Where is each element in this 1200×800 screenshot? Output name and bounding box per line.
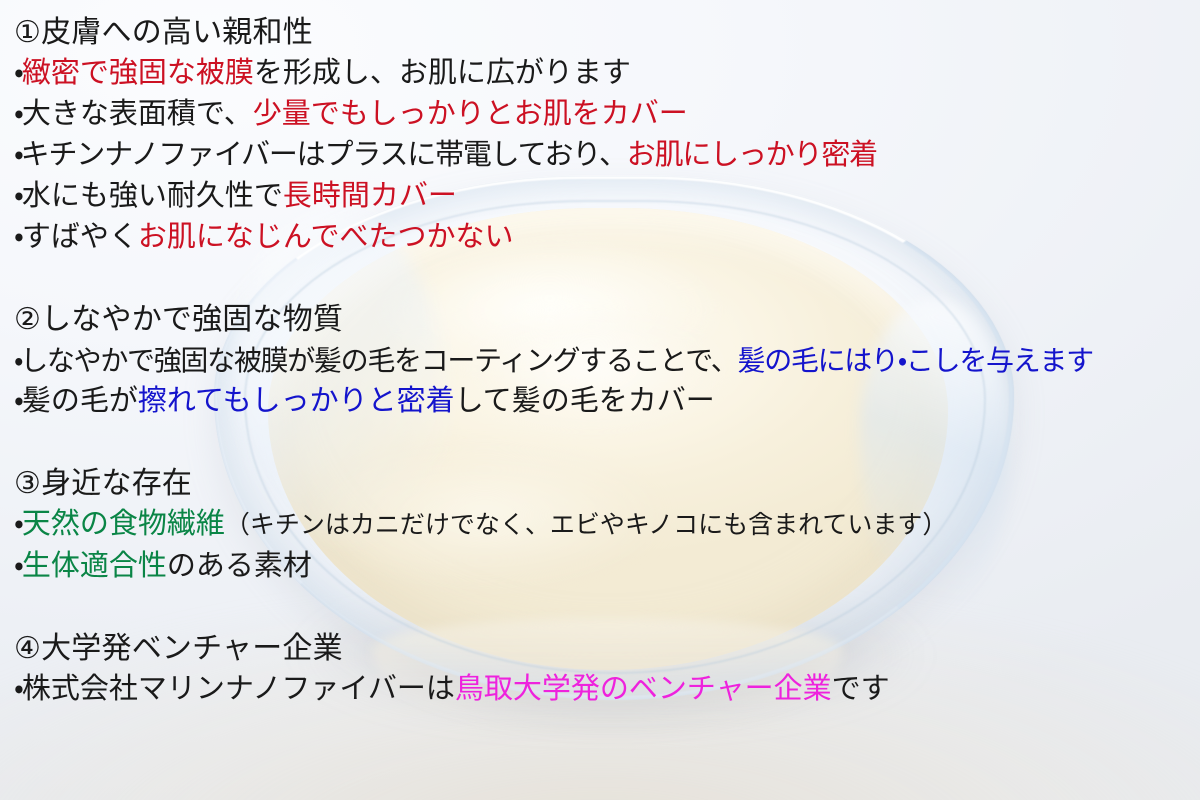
bullet-3-1: 天然の食物繊維（キチンはカニだけでなく、エビやキノコにも含まれています） [14, 504, 1200, 546]
bullet-1-5: すばやくお肌になじんでべたつかない [14, 217, 1200, 258]
section-spacer [14, 258, 1200, 299]
bullet-1-5-part-2: お肌になじんでべたつかない [138, 221, 514, 253]
bullet-3-2: 生体適合性のある素材 [14, 546, 1200, 587]
bullet-1-5-part-1: すばやく [22, 221, 138, 253]
bullet-1-1-part-2: を形成し、お肌に広がります [254, 57, 631, 89]
bullet-1-2-part-2: 少量でもしっかりとお肌をカバー [253, 98, 688, 130]
bullet-2-2-part-3: して髪の毛をカバー [455, 385, 715, 417]
bullet-2-2-part-2: 擦れてもしっかりと密着 [138, 385, 455, 417]
bullet-1-3-part-2: お肌にしっかり密着 [627, 139, 877, 171]
bullet-2-1: しなやかで強固な被膜が髪の毛をコーティングすることで、髪の毛にはり・こしを与えま… [14, 340, 1200, 381]
bullet-1-2-part-1: 大きな表面積で、 [22, 98, 253, 130]
bullet-4-1-part-3: です [832, 673, 890, 705]
bullet-2-1-part-1: しなやかで強固な被膜が髪の毛をコーティングすることで、 [20, 345, 737, 376]
section-4-heading: ④大学発ベンチャー企業 [14, 628, 1200, 669]
slide-canvas: ①皮膚への高い親和性 緻密で強固な被膜を形成し、お肌に広がります 大きな表面積で… [0, 0, 1200, 800]
bullet-2-1-part-2: 髪の毛にはり・こしを与えます [738, 345, 1093, 376]
bullet-1-2: 大きな表面積で、少量でもしっかりとお肌をカバー [14, 94, 1200, 135]
bullet-3-2-part-1: 生体適合性 [22, 550, 167, 582]
bullet-4-1-part-2: 鳥取大学発のベンチャー企業 [455, 673, 832, 705]
bullet-3-1-part-1: 天然の食物繊維 [22, 508, 225, 540]
section-2: ②しなやかで強固な物質 しなやかで強固な被膜が髪の毛をコーティングすることで、髪… [14, 299, 1200, 422]
bullet-1-1: 緻密で強固な被膜を形成し、お肌に広がります [14, 53, 1200, 94]
bullet-1-4: 水にも強い耐久性で長時間カバー [14, 176, 1200, 217]
bullet-1-3: キチンナノファイバーはプラスに帯電しており、お肌にしっかり密着 [14, 135, 1200, 176]
section-1: ①皮膚への高い親和性 緻密で強固な被膜を形成し、お肌に広がります 大きな表面積で… [14, 12, 1200, 258]
section-1-heading: ①皮膚への高い親和性 [14, 12, 1200, 53]
section-2-heading: ②しなやかで強固な物質 [14, 299, 1200, 340]
bullet-1-3-part-1: キチンナノファイバーはプラスに帯電しており、 [21, 139, 627, 171]
section-3-heading: ③身近な存在 [14, 463, 1200, 504]
bullet-4-1: 株式会社マリンナノファイバーは鳥取大学発のベンチャー企業です [14, 669, 1200, 710]
section-spacer [14, 422, 1200, 463]
slide-text-content: ①皮膚への高い親和性 緻密で強固な被膜を形成し、お肌に広がります 大きな表面積で… [0, 0, 1200, 800]
bullet-4-1-part-1: 株式会社マリンナノファイバーは [22, 673, 455, 705]
bullet-3-1-part-2: （キチンはカニだけでなく、エビやキノコにも含まれています） [225, 511, 948, 539]
section-spacer [14, 587, 1200, 628]
bullet-2-2-part-1: 髪の毛が [22, 385, 138, 417]
bullet-2-2: 髪の毛が擦れてもしっかりと密着して髪の毛をカバー [14, 381, 1200, 422]
bullet-1-4-part-2: 長時間カバー [283, 180, 457, 212]
bullet-3-2-part-2: のある素材 [167, 550, 312, 582]
section-3: ③身近な存在 天然の食物繊維（キチンはカニだけでなく、エビやキノコにも含まれてい… [14, 463, 1200, 587]
bullet-1-1-part-1: 緻密で強固な被膜 [22, 57, 254, 89]
bullet-1-4-part-1: 水にも強い耐久性で [22, 180, 283, 212]
section-4: ④大学発ベンチャー企業 株式会社マリンナノファイバーは鳥取大学発のベンチャー企業… [14, 628, 1200, 710]
